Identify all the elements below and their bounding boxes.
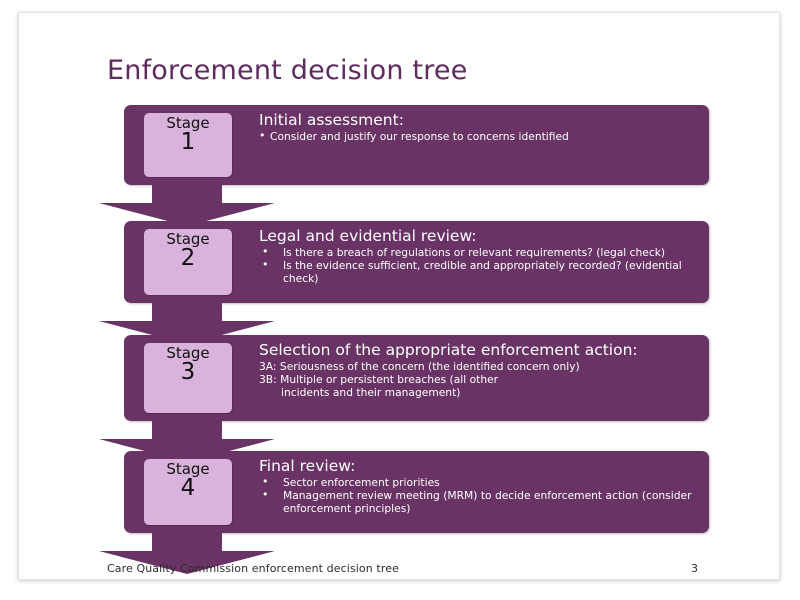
stage-row-2[interactable]: Stage 2 Legal and evidential review: Is … (124, 221, 709, 303)
stage-chip-number: 2 (181, 247, 196, 270)
stage-row-3[interactable]: Stage 3 Selection of the appropriate enf… (124, 335, 709, 421)
stage-lines-3: 3A: Seriousness of the concern (the iden… (259, 360, 699, 399)
stage-chip-1: Stage 1 (144, 113, 232, 177)
stage-lines-4: Sector enforcement priorities Management… (259, 476, 699, 515)
footer-text: Care Quality Commission enforcement deci… (107, 562, 399, 575)
stage-chip-4: Stage 4 (144, 459, 232, 525)
stage-heading-4: Final review: (259, 458, 699, 475)
stage-line: Sector enforcement priorities (259, 476, 699, 489)
page-title: Enforcement decision tree (107, 55, 468, 86)
stage-lines-1: Consider and justify our response to con… (259, 130, 699, 143)
arrow-stage1-to-stage2 (97, 179, 277, 227)
slide-frame: Enforcement decision tree Stage 1 Initia… (18, 12, 780, 580)
stage-chip-number: 3 (181, 361, 196, 384)
stage-heading-2: Legal and evidential review: (259, 228, 699, 245)
stage-line: Is the evidence sufficient, credible and… (259, 259, 699, 285)
stage-content-2: Legal and evidential review: Is there a … (259, 228, 699, 299)
stage-line: 3B: Multiple or persistent breaches (all… (259, 373, 699, 386)
stage-chip-number: 1 (181, 131, 196, 154)
stage-line: incidents and their management) (259, 386, 699, 399)
slide-canvas: Enforcement decision tree Stage 1 Initia… (19, 13, 779, 579)
stage-chip-2: Stage 2 (144, 229, 232, 295)
stage-line: Consider and justify our response to con… (259, 130, 699, 143)
stage-heading-3: Selection of the appropriate enforcement… (259, 342, 699, 359)
stage-row-1[interactable]: Stage 1 Initial assessment: Consider and… (124, 105, 709, 185)
stage-lines-2: Is there a breach of regulations or rele… (259, 246, 699, 285)
stage-heading-1: Initial assessment: (259, 112, 699, 129)
stage-content-3: Selection of the appropriate enforcement… (259, 342, 699, 417)
stage-chip-3: Stage 3 (144, 343, 232, 413)
stage-line: Is there a breach of regulations or rele… (259, 246, 699, 259)
stage-line: Management review meeting (MRM) to decid… (259, 489, 699, 515)
stage-row-4[interactable]: Stage 4 Final review: Sector enforcement… (124, 451, 709, 533)
footer-page-number: 3 (691, 562, 698, 575)
stage-content-1: Initial assessment: Consider and justify… (259, 112, 699, 181)
stage-chip-number: 4 (181, 477, 196, 500)
stage-content-4: Final review: Sector enforcement priorit… (259, 458, 699, 529)
stage-line: 3A: Seriousness of the concern (the iden… (259, 360, 699, 373)
